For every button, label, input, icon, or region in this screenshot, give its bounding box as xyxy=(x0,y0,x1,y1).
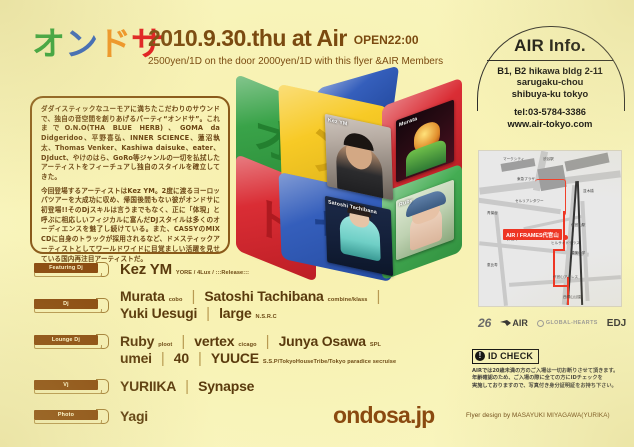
artist-sub: SPL xyxy=(370,342,381,348)
artist-sub: YORE / 4Lux / :::Release::: xyxy=(176,270,249,276)
address-line-3: shibuya-ku tokyo xyxy=(477,89,623,100)
lineup-row-lounge-dj-second: umei | 40 | YUUCE S.S.P/TokyoHouseTribe/… xyxy=(120,350,464,367)
artist-name: large xyxy=(219,305,251,321)
id-note-line-3: 実施しておりますので、写真付き身分証明証をお持ち下さい。 xyxy=(472,383,632,391)
artist-name: vertex xyxy=(194,333,234,349)
separator: | xyxy=(185,378,189,395)
artist-name: Kez YM xyxy=(120,261,172,278)
separator: | xyxy=(181,333,185,350)
badge-featuring-dj: Featuring Dj xyxy=(34,263,108,276)
id-check-section: ! ID CHECK AIRでは20歳未満の方のご入場は一切お断りさせて頂きます… xyxy=(472,345,632,390)
map-place-label: 並木橋 xyxy=(583,189,594,194)
air-contact: tel:03-5784-3386 www.air-tokyo.com xyxy=(477,107,623,130)
badge-photo: Photo xyxy=(34,410,108,423)
map-place-label: マークシティ xyxy=(503,157,524,162)
artist-name: Junya Osawa xyxy=(279,333,366,349)
sponsor-26-icon: 26 xyxy=(478,316,491,330)
swoosh-icon xyxy=(500,320,511,327)
badge-label: Dj xyxy=(34,299,98,309)
lineup-row-vj: Vj YURIIKA | Synapse xyxy=(34,375,464,397)
id-check-note: AIRでは20歳未満の方のご入場は一切お断りさせて頂きます。 年齢確認のため、ご… xyxy=(472,368,632,391)
artist-name: Yuki Uesugi xyxy=(120,305,197,321)
map-venue-label: AIR / FRAMES代官山 xyxy=(503,229,562,240)
artist-name: Synapse xyxy=(198,378,254,394)
id-note-line-1: AIRでは20歳未満の方のご入場は一切お断りさせて頂きます。 xyxy=(472,368,632,376)
separator: | xyxy=(377,288,381,305)
badge-label: Lounge Dj xyxy=(34,335,98,345)
flyer-canvas: オ ン ド サ 2010.9.30.thu at AirOPEN22:00 25… xyxy=(0,0,634,447)
event-date: 2010.9.30.thu at AirOPEN22:00 xyxy=(148,26,478,53)
artist-name: Yagi xyxy=(120,408,148,424)
exclamation-icon: ! xyxy=(475,351,485,361)
logo-char-do: ド xyxy=(98,27,130,60)
id-check-label: ID CHECK xyxy=(488,351,533,361)
map-place-label: 猿楽中学 xyxy=(571,251,585,256)
artist-name: YURIIKA xyxy=(120,378,176,394)
id-check-badge: ! ID CHECK xyxy=(472,349,539,364)
artist-name: Murata xyxy=(120,288,165,304)
map-place-label: 代官山アドレス xyxy=(553,275,578,280)
air-info-panel: AIR Info. B1, B2 hikawa bldg 2-11 saruga… xyxy=(477,26,623,110)
photo-kez-ym: Kez YM xyxy=(325,114,393,201)
separator: | xyxy=(266,333,270,350)
air-tel: tel:03-5784-3386 xyxy=(477,107,623,118)
map-place-label: 東急プラザ xyxy=(517,177,535,182)
event-date-text: 2010.9.30.thu at Air xyxy=(148,25,347,51)
separator: | xyxy=(191,288,195,305)
sponsor-air-icon: AIR xyxy=(500,318,528,328)
address-line-1: B1, B2 hikawa bldg 2-11 xyxy=(477,66,623,77)
sponsor-global-hearts-icon: GLOBAL-HEARTS xyxy=(537,320,598,327)
photo-caption-murata: Murata xyxy=(399,116,417,129)
artist-sub: cobo xyxy=(169,297,183,303)
air-info-title: AIR Info. xyxy=(477,36,623,56)
venue-map[interactable]: AIR / FRAMES代官山 渋谷駅 マークシティ 東急プラザ セルリアンタワ… xyxy=(478,150,622,307)
badge-vj: Vj xyxy=(34,380,108,393)
artist-sub: cicago xyxy=(238,342,256,348)
photo-caption-kez: Kez YM xyxy=(328,117,348,127)
artist-name: umei xyxy=(120,350,152,366)
badge-label: Photo xyxy=(34,410,98,420)
badge-label: Vj xyxy=(34,380,98,390)
description-paragraph-1: ダダイスティックなユーモアに満ちたこだわりのサウンドで、独自の音空間を創りあげる… xyxy=(41,105,220,183)
description-paragraph-2: 今回登場するアーティストはKez YM。2度に渡るヨーロッパツアーを大成功に収め… xyxy=(41,187,220,265)
map-place-label: ヒルサイドテラス xyxy=(551,241,580,246)
separator: | xyxy=(206,305,210,322)
map-route xyxy=(535,179,566,216)
id-note-line-2: 年齢確認のため、ご入場の際に全ての方にIDチェックを xyxy=(472,375,632,383)
badge-label: Featuring Dj xyxy=(34,263,98,273)
sponsor-edj-icon: EDJ xyxy=(607,318,626,329)
separator: | xyxy=(161,350,165,367)
artist-sub: N.S.R.C xyxy=(256,314,277,320)
badge-lounge-dj: Lounge Dj xyxy=(34,335,108,348)
map-place-label: 西郷山公園 xyxy=(563,295,581,300)
artist-name: Satoshi Tachibana xyxy=(204,288,323,304)
logo-char-o: オ xyxy=(32,27,64,60)
lineup-row-dj: Dj Murata cobo | Satoshi Tachibana combi… xyxy=(34,288,464,322)
ondosa-site-url[interactable]: ondosa.jp xyxy=(333,402,434,429)
map-place-label: 代官山駅 xyxy=(571,223,585,228)
circle-icon xyxy=(537,320,544,327)
divider xyxy=(487,60,613,61)
map-place-label: 渋谷駅 xyxy=(543,157,554,162)
logo-char-n: ン xyxy=(65,27,97,60)
artist-cube: オ ド ン サ Kez YM Murata xyxy=(230,78,462,266)
design-credit: Flyer design by MASAYUKI MIYAGAWA(YURIKA… xyxy=(466,412,610,419)
artist-sub: combine/klass xyxy=(328,297,368,303)
price-info: 2500yen/1D on the door 2000yen/1D with t… xyxy=(148,55,478,68)
map-place-label: 青葉台 xyxy=(487,211,498,216)
map-place-label: セルリアンタワー xyxy=(515,199,544,204)
artist-sub: S.S.P/TokyoHouseTribe/Tokyo paradice sec… xyxy=(263,359,396,365)
ondosa-logo: オ ン ド サ xyxy=(32,26,163,60)
separator: | xyxy=(198,350,202,367)
artist-name: YUUCE xyxy=(211,350,259,366)
artist-name: Ruby xyxy=(120,333,154,349)
open-time: OPEN22:00 xyxy=(354,33,419,47)
air-address: B1, B2 hikawa bldg 2-11 sarugaku-chou sh… xyxy=(477,66,623,100)
event-headline: 2010.9.30.thu at AirOPEN22:00 2500yen/1D… xyxy=(148,26,478,68)
map-place-label: 恵比寿 xyxy=(487,263,498,268)
lineup-row-lounge-dj: Lounge Dj Ruby ploot | vertex cicago | J… xyxy=(34,330,464,352)
description-box: ダダイスティックなユーモアに満ちたこだわりのサウンドで、独自の音空間を創りあげる… xyxy=(30,96,230,254)
artist-sub: ploot xyxy=(158,342,172,348)
artist-name: 40 xyxy=(174,350,189,366)
address-line-2: sarugaku-chou xyxy=(477,77,623,88)
sponsor-logos: 26 AIR GLOBAL-HEARTS EDJ xyxy=(478,312,628,334)
air-url[interactable]: www.air-tokyo.com xyxy=(477,119,623,130)
badge-dj: Dj xyxy=(34,299,108,312)
